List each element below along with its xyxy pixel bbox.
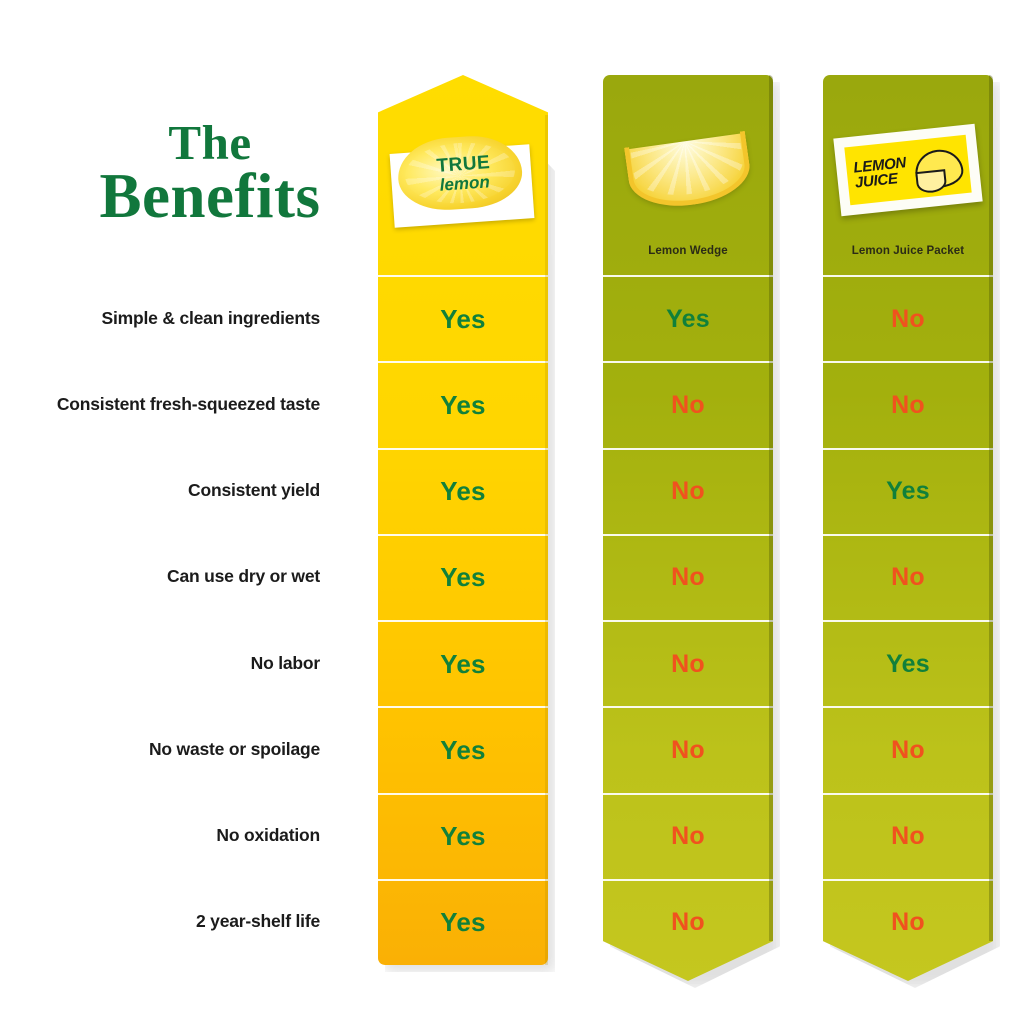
table-cell: No — [603, 706, 773, 792]
cell-value: Yes — [666, 305, 710, 334]
table-cell: No — [603, 620, 773, 706]
table-cell: Yes — [823, 448, 993, 534]
column-cells-lemon-juice-packet: No No Yes No Yes No No No — [823, 275, 993, 965]
cell-value: Yes — [440, 304, 485, 335]
table-cell: Yes — [378, 275, 548, 361]
packet-wrapper: LEMON JUICE — [833, 124, 982, 216]
cell-value: No — [891, 391, 925, 420]
cell-value: No — [891, 736, 925, 765]
table-cell: No — [823, 534, 993, 620]
title-line-2: Benefits — [60, 167, 360, 227]
column-body: LEMON JUICE Lemon Juice Packet No No Yes… — [823, 75, 993, 981]
cell-value: Yes — [886, 650, 930, 679]
table-cell: No — [603, 793, 773, 879]
title-line-1: The — [60, 120, 360, 167]
table-cell: No — [823, 275, 993, 361]
cell-value: Yes — [886, 477, 930, 506]
benefits-comparison-infographic: The Benefits Simple & clean ingredients … — [0, 0, 1024, 1024]
column-header-true-lemon: TRUE lemon — [378, 75, 548, 275]
table-cell: No — [603, 879, 773, 965]
row-label: No oxidation — [20, 793, 320, 879]
lemon-juice-packet-icon: LEMON JUICE — [837, 125, 979, 217]
cell-value: No — [671, 908, 705, 937]
cell-value: No — [891, 908, 925, 937]
column-header-lemon-wedge: Lemon Wedge — [603, 75, 773, 275]
row-label: Consistent yield — [20, 448, 320, 534]
row-label: Can use dry or wet — [20, 534, 320, 620]
row-label: No labor — [20, 620, 320, 706]
row-label: No waste or spoilage — [20, 706, 320, 792]
table-cell: Yes — [823, 620, 993, 706]
table-cell: No — [603, 534, 773, 620]
column-caption: Lemon Wedge — [603, 245, 773, 257]
column-body: Lemon Wedge Yes No No No No No No No — [603, 75, 773, 981]
column-body: TRUE lemon Yes Yes Yes Yes Yes Yes Yes Y… — [378, 75, 548, 965]
cell-value: No — [671, 391, 705, 420]
row-label-list: Simple & clean ingredients Consistent fr… — [20, 275, 330, 965]
table-cell: Yes — [378, 706, 548, 792]
column-lemon-wedge: Lemon Wedge Yes No No No No No No No — [603, 75, 773, 981]
true-lemon-logo: TRUE lemon — [421, 152, 507, 195]
wedge-rind — [624, 131, 754, 213]
cell-value: Yes — [440, 735, 485, 766]
cell-value: No — [671, 650, 705, 679]
column-cells-lemon-wedge: Yes No No No No No No No — [603, 275, 773, 965]
row-label: Consistent fresh-squeezed taste — [20, 361, 320, 447]
cell-value: No — [671, 822, 705, 851]
table-cell: No — [603, 448, 773, 534]
column-true-lemon: TRUE lemon Yes Yes Yes Yes Yes Yes Yes Y… — [378, 75, 548, 965]
cell-value: Yes — [440, 562, 485, 593]
table-cell: Yes — [378, 448, 548, 534]
cell-value: Yes — [440, 907, 485, 938]
table-cell: Yes — [378, 361, 548, 447]
cell-value: Yes — [440, 476, 485, 507]
column-cells-true-lemon: Yes Yes Yes Yes Yes Yes Yes Yes — [378, 275, 548, 965]
cell-value: No — [671, 736, 705, 765]
table-cell: No — [823, 361, 993, 447]
cell-value: No — [671, 563, 705, 592]
table-cell: No — [823, 706, 993, 792]
row-label: 2 year-shelf life — [20, 879, 320, 965]
cell-value: No — [891, 822, 925, 851]
packet-label: LEMON JUICE — [844, 135, 971, 205]
table-cell: No — [823, 793, 993, 879]
page-title: The Benefits — [60, 120, 360, 226]
table-cell: No — [823, 879, 993, 965]
cell-value: No — [671, 477, 705, 506]
true-lemon-packet-icon: TRUE lemon — [384, 135, 542, 235]
cell-value: No — [891, 563, 925, 592]
table-cell: Yes — [378, 534, 548, 620]
cell-value: Yes — [440, 649, 485, 680]
table-cell: No — [603, 361, 773, 447]
cell-value: Yes — [440, 821, 485, 852]
lemon-wedge-icon — [629, 123, 753, 207]
cell-value: Yes — [440, 390, 485, 421]
cell-value: No — [891, 305, 925, 334]
column-caption: Lemon Juice Packet — [823, 245, 993, 257]
column-header-lemon-juice-packet: LEMON JUICE Lemon Juice Packet — [823, 75, 993, 275]
table-cell: Yes — [603, 275, 773, 361]
column-lemon-juice-packet: LEMON JUICE Lemon Juice Packet No No Yes… — [823, 75, 993, 981]
table-cell: Yes — [378, 879, 548, 965]
table-cell: Yes — [378, 793, 548, 879]
row-label: Simple & clean ingredients — [20, 275, 320, 361]
table-cell: Yes — [378, 620, 548, 706]
